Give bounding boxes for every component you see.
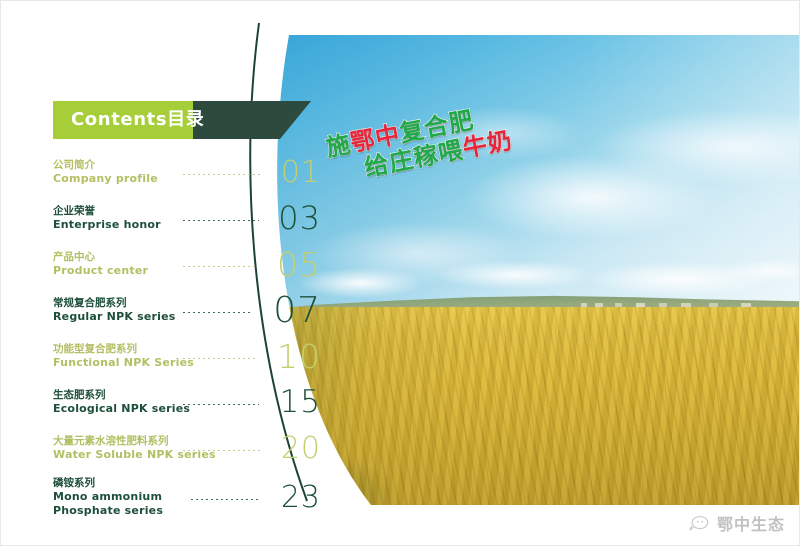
toc-entry-ecological-npk-series[interactable]: 生态肥系列 Ecological NPK series 15 <box>53 379 321 425</box>
toc-entry-titles: 生态肥系列 Ecological NPK series <box>53 389 177 416</box>
toc-leader-dots <box>183 312 253 313</box>
toc-title-en: Ecological NPK series <box>53 402 177 416</box>
toc-leader-dots <box>183 266 257 267</box>
toc-leader-dots <box>191 499 261 500</box>
toc-entry-product-center[interactable]: 产品中心 Product center 05 <box>53 241 321 287</box>
toc-title-cn: 产品中心 <box>53 251 177 264</box>
field-photograph: 施鄂中复合肥 给庄稼喂牛奶 <box>251 35 800 505</box>
toc-title-en: Functional NPK Series <box>53 356 177 370</box>
toc-title-cn: 公司简介 <box>53 159 177 172</box>
table-of-contents: 公司简介 Company profile 01 企业荣誉 Enterprise … <box>53 149 321 523</box>
contents-header-bar: Contents目录 <box>53 101 311 139</box>
toc-title-en: Mono ammonium <box>53 490 185 504</box>
toc-entry-titles: 公司简介 Company profile <box>53 159 177 186</box>
toc-title-en-2: Phosphate series <box>53 504 185 518</box>
watermark-text: 鄂中生态 <box>717 511 785 535</box>
toc-title-en: Enterprise honor <box>53 218 177 232</box>
toc-page-number: 10 <box>263 337 321 376</box>
toc-title-en: Company profile <box>53 172 177 186</box>
toc-leader-dots <box>183 404 259 405</box>
toc-page-number: 23 <box>267 480 321 515</box>
toc-title-en: Product center <box>53 264 177 278</box>
toc-entry-functional-npk-series[interactable]: 功能型复合肥系列 Functional NPK Series 10 <box>53 333 321 379</box>
toc-title-cn: 企业荣誉 <box>53 205 177 218</box>
toc-title-cn: 功能型复合肥系列 <box>53 343 177 356</box>
contents-panel: Contents目录 公司简介 Company profile 01 企业荣誉 … <box>1 1 321 546</box>
watermark: 鄂中生态 <box>688 511 785 535</box>
page-title: Contents目录 <box>71 101 204 139</box>
toc-title-cn: 生态肥系列 <box>53 389 177 402</box>
toc-entry-water-soluble-npk-series[interactable]: 大量元素水溶性肥料系列 Water Soluble NPK series 20 <box>53 425 321 471</box>
toc-leader-dots <box>183 358 257 359</box>
toc-page-number: 01 <box>267 155 321 190</box>
toc-entry-titles: 常规复合肥系列 Regular NPK series <box>53 297 177 324</box>
toc-title-en: Regular NPK series <box>53 310 177 324</box>
toc-leader-dots <box>183 174 261 175</box>
toc-entry-titles: 产品中心 Product center <box>53 251 177 278</box>
toc-entry-regular-npk-series[interactable]: 常规复合肥系列 Regular NPK series 07 <box>53 287 321 333</box>
toc-entry-titles: 功能型复合肥系列 Functional NPK Series <box>53 343 177 370</box>
toc-page-number: 05 <box>263 245 321 284</box>
wechat-bubble-icon <box>688 515 710 532</box>
toc-page-number: 15 <box>265 384 321 420</box>
toc-page-number: 07 <box>259 290 321 331</box>
toc-entry-titles: 企业荣誉 Enterprise honor <box>53 205 177 232</box>
toc-entry-company-profile[interactable]: 公司简介 Company profile 01 <box>53 149 321 195</box>
toc-page-number: 03 <box>265 199 321 237</box>
toc-title-cn: 常规复合肥系列 <box>53 297 177 310</box>
toc-entry-mono-ammonium-phosphate-series[interactable]: 磷铵系列 Mono ammonium Phosphate series 23 <box>53 471 321 523</box>
toc-page-number: 20 <box>267 431 321 466</box>
toc-entry-enterprise-honor[interactable]: 企业荣誉 Enterprise honor 03 <box>53 195 321 241</box>
toc-entry-titles: 大量元素水溶性肥料系列 Water Soluble NPK series <box>53 435 177 462</box>
toc-title-en: Water Soluble NPK series <box>53 448 177 462</box>
toc-entry-titles: 磷铵系列 Mono ammonium Phosphate series <box>53 477 185 518</box>
slide-canvas: 施鄂中复合肥 给庄稼喂牛奶 Contents目录 公司简介 Company pr… <box>0 0 800 546</box>
toc-leader-dots <box>183 450 261 451</box>
toc-title-cn: 大量元素水溶性肥料系列 <box>53 435 177 448</box>
toc-title-cn: 磷铵系列 <box>53 477 185 490</box>
toc-leader-dots <box>183 220 259 221</box>
